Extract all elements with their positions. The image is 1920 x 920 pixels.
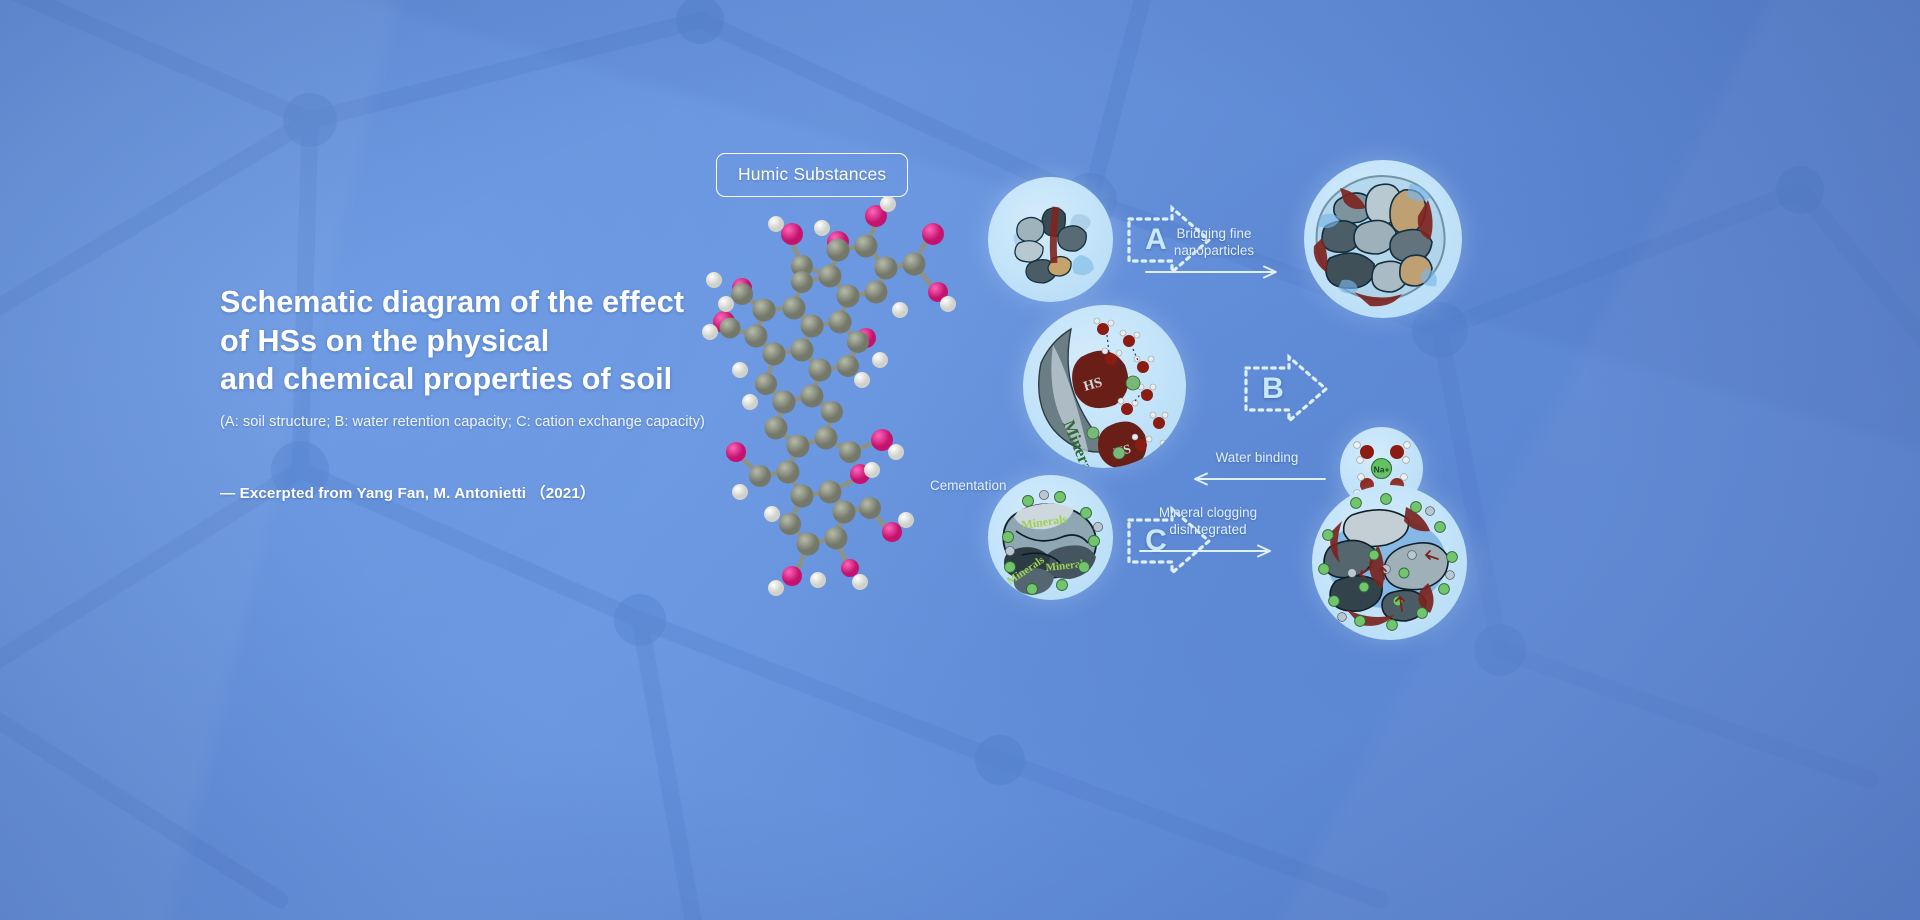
circle-hs-mineral-water-binding: Minerals HS HS — [1023, 305, 1186, 468]
flow-label-c: Mineral clogging disintegrated — [1108, 505, 1308, 539]
soil-aggregate-bound-illustration — [1304, 160, 1462, 318]
flow-connector-c: Mineral clogging disintegrated — [1108, 505, 1308, 558]
arrow-left-icon-b — [1187, 472, 1327, 486]
title-line-3: and chemical properties of soil — [220, 362, 672, 396]
flow-badge-b-letter: B — [1243, 353, 1303, 425]
hs-water-binding-illustration: Minerals HS HS — [1023, 305, 1186, 468]
soil-particles-loose-illustration — [988, 177, 1113, 302]
title-line-2: of HSs on the physical — [220, 324, 549, 358]
cation-exchange-dispersed-illustration — [1312, 485, 1467, 640]
arrow-right-icon-a — [1144, 265, 1284, 279]
title-line-1: Schematic diagram of the effect — [220, 285, 684, 319]
arrow-right-icon-c — [1138, 544, 1278, 558]
flow-connector-b: Water binding — [1167, 450, 1347, 486]
circle-soil-particles-loose — [988, 177, 1113, 302]
label-sodium-ion: Na+ — [1374, 465, 1390, 475]
diagram-area: Humic Substances — [690, 100, 1900, 820]
flow-connector-a: Bridging fine nanoparticles — [1119, 226, 1309, 279]
cementation-label: Cementation — [930, 478, 1006, 493]
mineral-clogged-aggregate-illustration: Minerals Minerals Minerals — [988, 475, 1113, 600]
flow-label-b: Water binding — [1167, 450, 1347, 467]
flow-label-a: Bridging fine nanoparticles — [1119, 226, 1309, 260]
flow-badge-b: B — [1243, 353, 1329, 425]
humic-substance-molecule-icon — [680, 180, 960, 600]
circle-soil-aggregate-bound — [1304, 160, 1462, 318]
circle-mineral-clogged-aggregate: Minerals Minerals Minerals — [988, 475, 1113, 600]
circle-cation-exchange-dispersed — [1312, 485, 1467, 640]
